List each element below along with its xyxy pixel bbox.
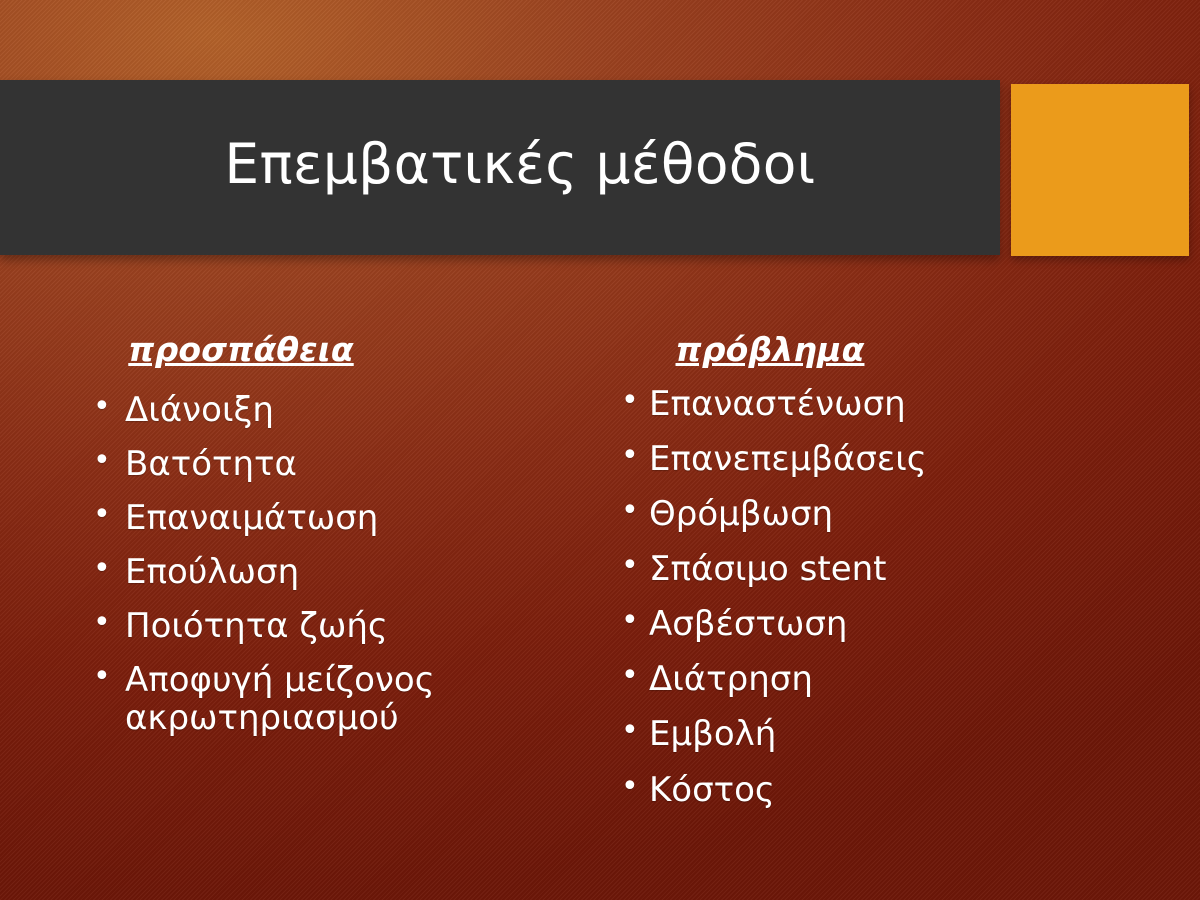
accent-block: [1011, 84, 1189, 256]
title-bar: Επεμβατικές μέθοδοι: [0, 80, 1000, 255]
column-left-list: Διάνοιξη Βατότητα Επαναιμάτωση Επούλωση …: [55, 391, 575, 738]
list-item: Εμβολή: [613, 715, 1135, 753]
list-item: Βατότητα: [85, 445, 575, 483]
list-item: Ασβέστωση: [613, 605, 1135, 643]
list-item: Θρόμβωση: [613, 495, 1135, 533]
list-item: Διάνοιξη: [85, 391, 575, 429]
column-left: προσπάθεια Διάνοιξη Βατότητα Επαναιμάτωσ…: [55, 330, 575, 754]
list-item: Επαναιμάτωση: [85, 499, 575, 537]
column-right: πρόβλημα Επαναστένωση Επανεπεμβάσεις Θρό…: [595, 330, 1135, 826]
column-right-list: Επαναστένωση Επανεπεμβάσεις Θρόμβωση Σπά…: [595, 385, 1135, 809]
page-title: Επεμβατικές μέθοδοι: [184, 134, 815, 201]
list-item: Επανεπεμβάσεις: [613, 440, 1135, 478]
slide: Επεμβατικές μέθοδοι προσπάθεια Διάνοιξη …: [0, 0, 1200, 900]
list-item: Επούλωση: [85, 553, 575, 591]
list-item: Ποιότητα ζωής: [85, 607, 575, 645]
column-right-heading: πρόβλημα: [595, 330, 1135, 369]
list-item: Αποφυγή μείζονος ακρωτηριασμού: [85, 661, 575, 737]
content-columns: προσπάθεια Διάνοιξη Βατότητα Επαναιμάτωσ…: [0, 330, 1200, 890]
list-item: Επαναστένωση: [613, 385, 1135, 423]
list-item: Σπάσιμο stent: [613, 550, 1135, 588]
list-item: Διάτρηση: [613, 660, 1135, 698]
list-item: Κόστος: [613, 771, 1135, 809]
column-left-heading: προσπάθεια: [55, 330, 575, 369]
